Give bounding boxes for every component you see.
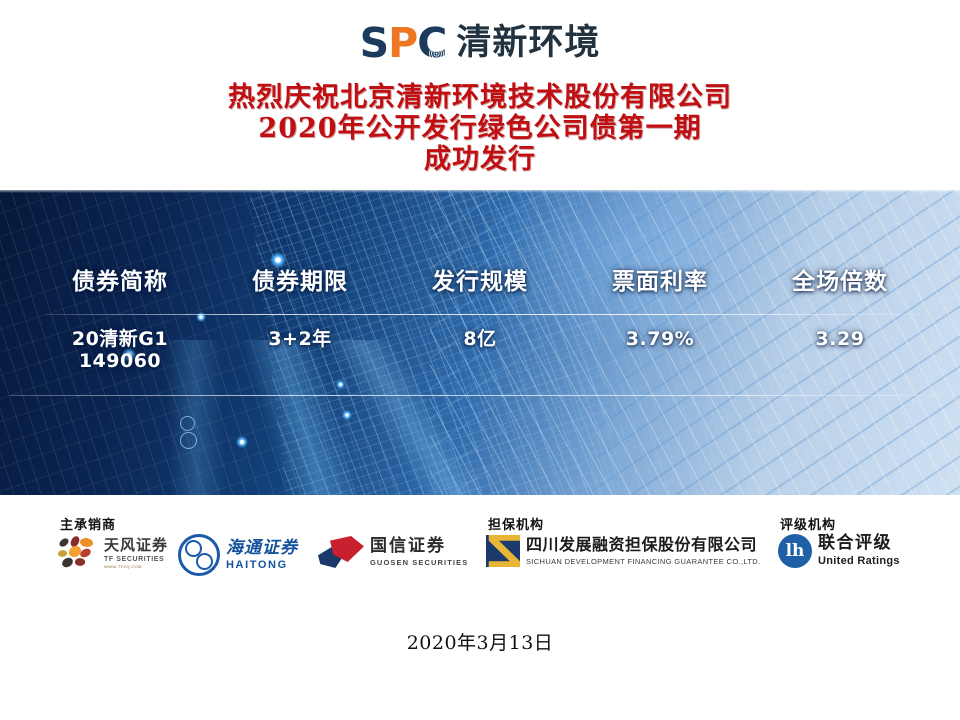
cell-bid-multiple: 3.29 <box>750 328 930 372</box>
hero-banner: 债券简称 债券期限 发行规模 票面利率 全场倍数 20清新G1 149060 3… <box>0 190 960 495</box>
tf-name-cn: 天风证券 <box>104 538 168 553</box>
issue-date: 2020年3月13日 <box>0 628 960 655</box>
cell-bond-term: 3+2年 <box>210 328 390 372</box>
bond-facts-table: 债券简称 债券期限 发行规模 票面利率 全场倍数 20清新G1 149060 3… <box>0 190 960 495</box>
label-guarantor: 担保机构 <box>488 514 544 533</box>
united-ratings-name-en: United Ratings <box>818 556 900 567</box>
label-rating-agency: 评级机构 <box>780 514 836 533</box>
table-row: 20清新G1 149060 3+2年 8亿 3.79% 3.29 <box>30 328 930 372</box>
logo-united-ratings: lh 联合评级 United Ratings <box>778 534 900 568</box>
logo-guosen-securities: 国信证券 GUOSEN SECURITIES <box>318 536 468 568</box>
united-ratings-wordmark: 联合评级 United Ratings <box>818 535 900 567</box>
haitong-name-cn: 海通证券 <box>226 540 298 557</box>
cell-bond-name: 20清新G1 149060 <box>30 328 210 372</box>
tf-name-sub: WWW.TFZQ.COM <box>104 565 168 569</box>
haitong-name-en: HAITONG <box>226 560 298 571</box>
united-ratings-name-cn: 联合评级 <box>818 535 900 552</box>
sichuan-name-cn: 四川发展融资担保股份有限公司 <box>526 537 760 553</box>
headline-line-1: 热烈庆祝北京清新环境技术股份有限公司 <box>0 82 960 113</box>
haitong-knot-icon <box>178 534 220 576</box>
guosen-wordmark: 国信证券 GUOSEN SECURITIES <box>370 538 468 567</box>
logo-tf-securities: 天风证券 TF SECURITIES WWW.TFZQ.COM <box>58 536 168 570</box>
headline-line-2: 2020年公开发行绿色公司债第一期 <box>0 113 960 144</box>
guosen-name-cn: 国信证券 <box>370 538 468 555</box>
sichuan-name-en: SICHUAN DEVELOPMENT FINANCING GUARANTEE … <box>526 558 760 566</box>
tf-flower-icon <box>58 536 98 570</box>
column-header-bid-multiple: 全场倍数 <box>750 262 930 296</box>
column-header-bond-term: 债券期限 <box>210 262 390 296</box>
guosen-shield-icon <box>318 536 364 568</box>
headline-line-3: 成功发行 <box>0 144 960 175</box>
haitong-wordmark: 海通证券 HAITONG <box>226 540 298 571</box>
cell-coupon-rate: 3.79% <box>570 328 750 372</box>
label-underwriters: 主承销商 <box>60 514 116 533</box>
column-header-bond-name: 债券简称 <box>30 262 210 296</box>
brand-logo: SPC 清新环境 <box>0 14 960 72</box>
institutions-section: 主承销商 担保机构 评级机构 天风证券 TF SECURITIES WWW.TF… <box>0 508 960 618</box>
poster-page: SPC 清新环境 热烈庆祝北京清新环境技术股份有限公司 2020年公开发行绿色公… <box>0 0 960 720</box>
column-header-issue-size: 发行规模 <box>390 262 570 296</box>
logo-letter-c: C <box>417 19 446 67</box>
brand-name-cn: 清新环境 <box>456 26 600 61</box>
cell-issue-size: 8亿 <box>390 328 570 372</box>
logo-haitong-securities: 海通证券 HAITONG <box>178 534 298 576</box>
united-ratings-mark-text: lh <box>786 543 805 560</box>
united-ratings-circle-icon: lh <box>778 534 812 568</box>
table-divider <box>46 314 918 315</box>
page-title: 热烈庆祝北京清新环境技术股份有限公司 2020年公开发行绿色公司债第一期 成功发… <box>0 82 960 175</box>
spc-logomark: SPC <box>360 23 447 64</box>
guosen-name-en: GUOSEN SECURITIES <box>370 559 468 567</box>
tf-wordmark: 天风证券 TF SECURITIES WWW.TFZQ.COM <box>104 538 168 569</box>
logo-letter-s: S <box>360 19 389 67</box>
sichuan-z-icon <box>486 535 520 567</box>
banner-rule <box>10 395 950 396</box>
table-header-row: 债券简称 债券期限 发行规模 票面利率 全场倍数 <box>30 262 930 296</box>
column-header-coupon-rate: 票面利率 <box>570 262 750 296</box>
logo-letter-p: P <box>388 19 417 67</box>
logo-sichuan-development: 四川发展融资担保股份有限公司 SICHUAN DEVELOPMENT FINAN… <box>486 535 760 567</box>
tf-name-en: TF SECURITIES <box>104 556 168 563</box>
sichuan-wordmark: 四川发展融资担保股份有限公司 SICHUAN DEVELOPMENT FINAN… <box>526 537 760 566</box>
